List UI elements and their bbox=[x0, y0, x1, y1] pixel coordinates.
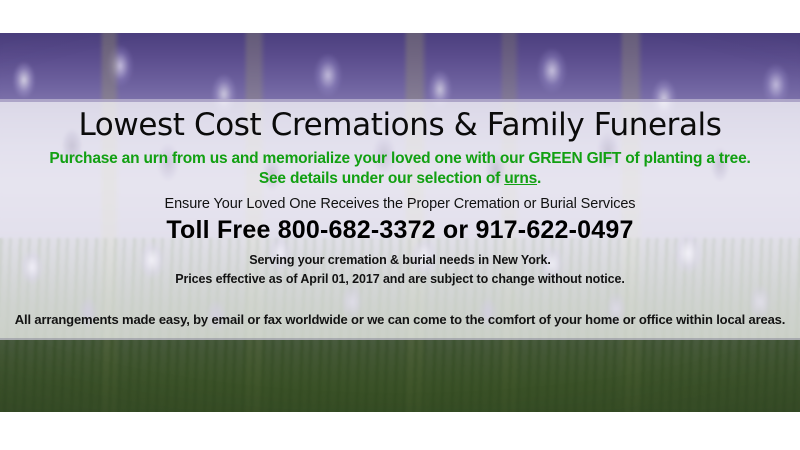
green-gift-promo: Purchase an urn from us and memorialize … bbox=[0, 145, 800, 189]
banner-copy: Lowest Cost Cremations & Family Funerals… bbox=[0, 99, 800, 329]
service-area-note: Serving your cremation & burial needs in… bbox=[0, 245, 800, 270]
page-title: Lowest Cost Cremations & Family Funerals bbox=[0, 99, 800, 145]
promo-line-2-prefix: See details under our selection of bbox=[259, 170, 504, 187]
overlay-bottom-edge bbox=[0, 338, 800, 340]
text-overlay-panel: Lowest Cost Cremations & Family Funerals… bbox=[0, 99, 800, 340]
assurance-text: Ensure Your Loved One Receives the Prope… bbox=[0, 189, 800, 213]
green-gift-promo-line-2: See details under our selection of urns. bbox=[0, 169, 800, 189]
funeral-services-banner: Lowest Cost Cremations & Family Funerals… bbox=[0, 0, 800, 450]
phone-numbers[interactable]: Toll Free 800-682-3372 or 917-622-0497 bbox=[0, 213, 800, 245]
urns-link[interactable]: urns bbox=[504, 170, 537, 187]
arrangements-note: All arrangements made easy, by email or … bbox=[0, 289, 800, 329]
pricing-disclaimer: Prices effective as of April 01, 2017 an… bbox=[0, 270, 800, 289]
promo-line-2-suffix: . bbox=[537, 170, 541, 187]
green-gift-promo-line-1: Purchase an urn from us and memorialize … bbox=[49, 150, 750, 167]
